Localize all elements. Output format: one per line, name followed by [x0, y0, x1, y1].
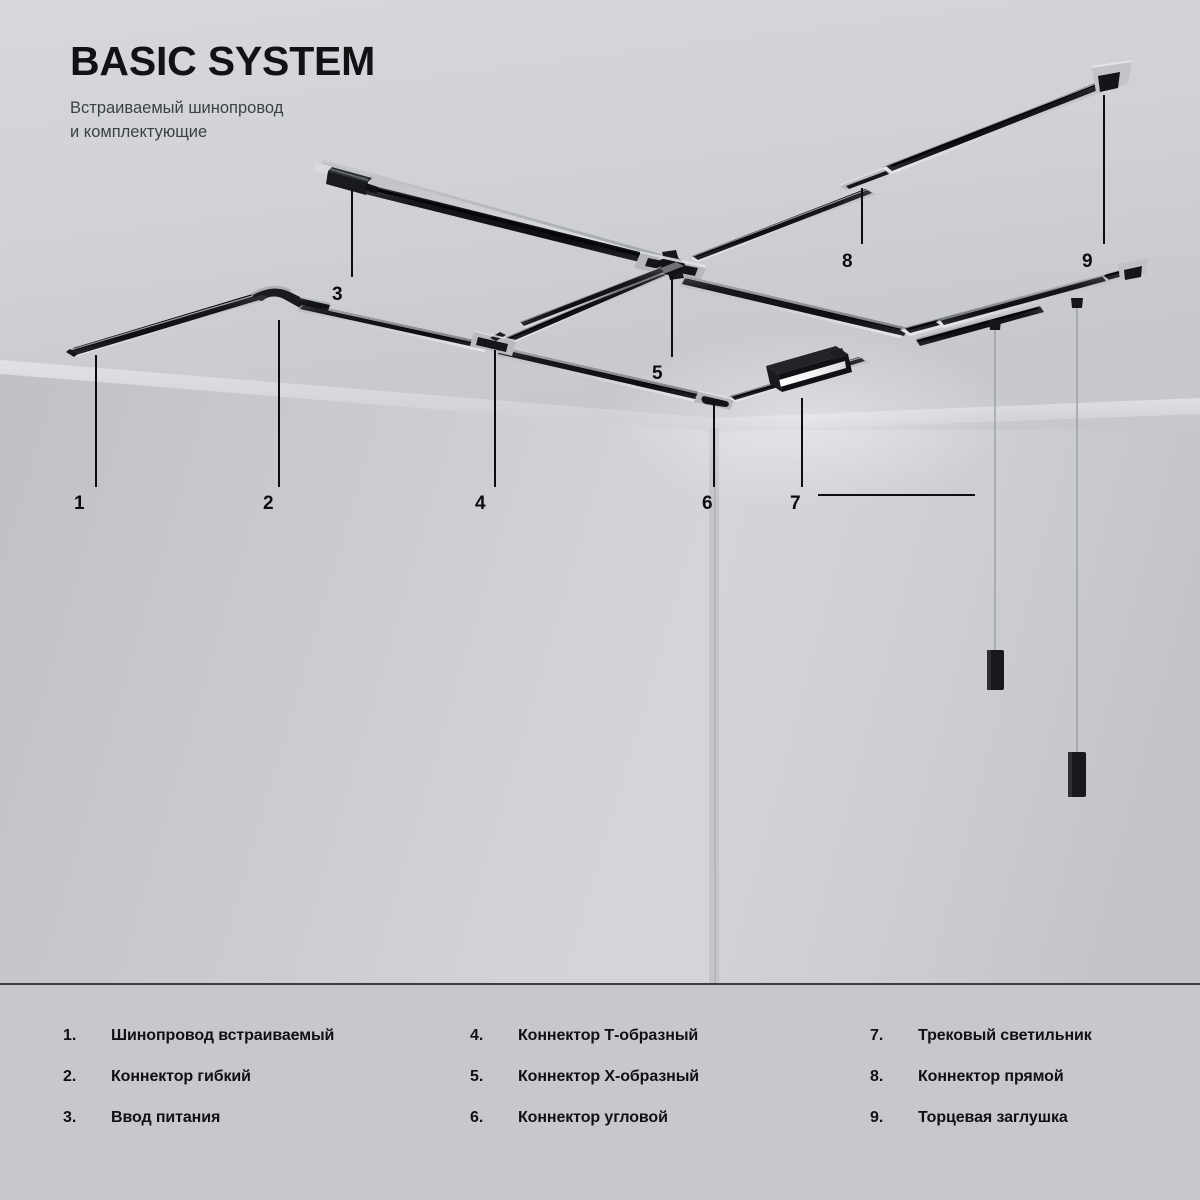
pendant-lamp-highlight [987, 650, 991, 690]
legend-item: 8.Коннектор прямой [870, 1068, 1092, 1109]
legend-item-label: Коннектор Х-образный [518, 1068, 699, 1086]
legend-item: 5.Коннектор Х-образный [470, 1068, 699, 1109]
legend-item-label: Коннектор Т-образный [518, 1027, 698, 1045]
legend-item-label: Трековый светильник [918, 1027, 1092, 1045]
legend-item-number: 1. [63, 1027, 111, 1045]
callout-number-4: 4 [475, 494, 486, 513]
callout-number-1: 1 [74, 494, 85, 513]
room-surfaces [0, 0, 1200, 985]
right-wall-surface [715, 430, 1200, 985]
track-system-illustration [0, 0, 1200, 985]
legend-item: 9.Торцевая заглушка [870, 1109, 1092, 1150]
legend-item-number: 2. [63, 1068, 111, 1086]
callout-number-7: 7 [790, 494, 801, 513]
legend-item-number: 9. [870, 1109, 918, 1127]
page-subtitle: Встраиваемый шинопровод и комплектующие [70, 97, 375, 145]
room-scene [0, 0, 1200, 985]
left-wall-surface [0, 372, 715, 985]
legend-item-label: Коннектор угловой [518, 1109, 668, 1127]
callout-number-5: 5 [652, 364, 663, 383]
legend-column-1: 1.Шинопровод встраиваемый2.Коннектор гиб… [63, 1027, 334, 1150]
callout-number-9: 9 [1082, 252, 1093, 271]
pendant-track-adapter [1071, 298, 1083, 308]
callout-number-8: 8 [842, 252, 853, 271]
legend-item: 7.Трековый светильник [870, 1027, 1092, 1068]
callout-number-2: 2 [263, 494, 274, 513]
legend-item-label: Коннектор гибкий [111, 1068, 251, 1086]
legend-item: 4.Коннектор Т-образный [470, 1027, 699, 1068]
legend-item-number: 8. [870, 1068, 918, 1086]
legend-panel: 1.Шинопровод встраиваемый2.Коннектор гиб… [0, 985, 1200, 1200]
legend-item-label: Торцевая заглушка [918, 1109, 1068, 1127]
page-header: BASIC SYSTEM Встраиваемый шинопровод и к… [70, 40, 375, 145]
pendant-track-adapter [989, 320, 1001, 330]
callout-number-3: 3 [332, 285, 343, 304]
callout-number-6: 6 [702, 494, 713, 513]
legend-item: 6.Коннектор угловой [470, 1109, 699, 1150]
legend-item-number: 6. [470, 1109, 518, 1127]
legend-item-label: Коннектор прямой [918, 1068, 1064, 1086]
legend-item-number: 3. [63, 1109, 111, 1127]
legend-column-2: 4.Коннектор Т-образный5.Коннектор Х-обра… [470, 1027, 699, 1150]
legend-item-number: 4. [470, 1027, 518, 1045]
legend-item-label: Ввод питания [111, 1109, 220, 1127]
legend-item: 2.Коннектор гибкий [63, 1068, 334, 1109]
legend-item-number: 5. [470, 1068, 518, 1086]
pendant-lamp-highlight [1068, 752, 1072, 797]
legend-item-label: Шинопровод встраиваемый [111, 1027, 334, 1045]
legend-item: 3.Ввод питания [63, 1109, 334, 1150]
legend-column-3: 7.Трековый светильник8.Коннектор прямой9… [870, 1027, 1092, 1150]
page-title: BASIC SYSTEM [70, 40, 375, 83]
legend-item-number: 7. [870, 1027, 918, 1045]
legend-item: 1.Шинопровод встраиваемый [63, 1027, 334, 1068]
